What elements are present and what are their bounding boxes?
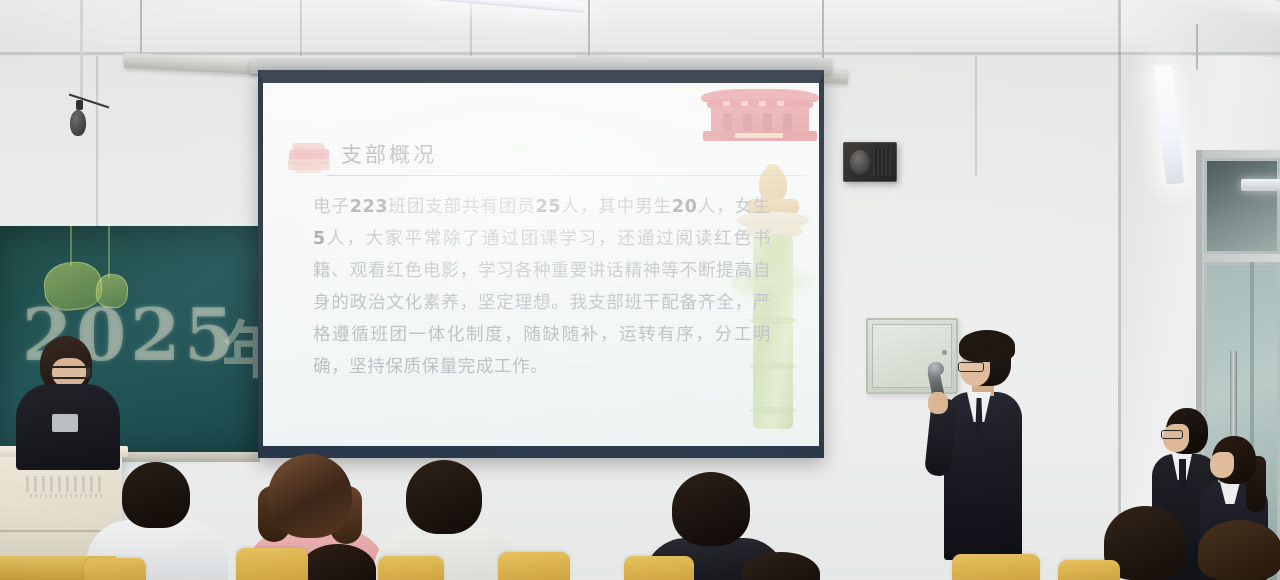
face xyxy=(1210,452,1234,478)
hanging-microphone-icon xyxy=(70,110,86,136)
glasses-icon xyxy=(50,366,92,379)
slide-body-run: 电子 xyxy=(313,197,350,217)
slide-body-run: 班团支部共有团员 xyxy=(388,197,535,217)
light-rod xyxy=(1196,24,1198,70)
chair xyxy=(236,548,308,580)
head xyxy=(406,460,482,534)
corridor-light xyxy=(1241,179,1280,191)
slide-body-run: 人，其中男生 xyxy=(561,197,672,217)
ceiling xyxy=(0,0,1280,56)
podium-logo xyxy=(26,476,106,492)
slide-body-emphasis: 25 xyxy=(536,197,562,217)
chair xyxy=(378,556,444,580)
head xyxy=(122,462,190,528)
shirt-graphic xyxy=(52,414,78,432)
wall-speaker xyxy=(843,142,897,182)
birds-icon xyxy=(715,99,728,106)
head xyxy=(268,454,352,538)
wall-seam xyxy=(1118,0,1121,580)
lantern-string xyxy=(70,226,72,266)
lantern-string xyxy=(108,226,110,278)
chair xyxy=(952,554,1040,580)
chair xyxy=(624,556,694,580)
party-emblem-icon xyxy=(287,141,331,175)
slide-body-text: 电子223班团支部共有团员25人，其中男生20人，女生5人，大家平常除了通过团课… xyxy=(313,191,771,383)
classroom-presentation-photo: 2025 年 xyxy=(0,0,1280,580)
wall-seam xyxy=(300,0,302,56)
slide-body-emphasis: 5 xyxy=(313,229,326,249)
ceiling-mount-pole xyxy=(80,0,83,110)
slide-body-run: 人，大家平常除了通过团课学习，还通过阅读红色书籍、观看红色电影，学习各种重要讲话… xyxy=(313,229,771,377)
slide-title: 支部概况 xyxy=(341,139,437,169)
podium-subtext xyxy=(30,494,102,498)
speaker-cone-icon xyxy=(850,150,870,174)
slide-body-emphasis: 223 xyxy=(350,197,388,217)
birds-icon xyxy=(732,110,742,116)
ceiling-mount-knob xyxy=(76,100,83,110)
hand xyxy=(928,392,948,414)
chair xyxy=(1058,560,1120,580)
presentation-slide: 支部概况 电子223班团支部共有团员25人，其中男生20人，女生5人，大家平常除… xyxy=(263,83,819,446)
electrical-panel xyxy=(866,318,958,394)
glasses-icon xyxy=(1161,430,1183,439)
head xyxy=(672,472,750,546)
speaker-grille xyxy=(873,148,891,176)
panel-latch-icon xyxy=(942,350,947,355)
door-transom-window xyxy=(1204,158,1280,254)
slide-body-run: 人，女生 xyxy=(697,197,771,217)
wall-seam xyxy=(470,0,472,56)
chair xyxy=(84,558,146,580)
glasses-icon xyxy=(958,362,984,372)
projector-screen: 支部概况 电子223班团支部共有团员25人，其中男生20人，女生5人，大家平常除… xyxy=(258,70,824,458)
hair xyxy=(959,330,1015,362)
title-underline xyxy=(327,175,805,176)
slide-body-emphasis: 20 xyxy=(672,197,698,217)
audience-head xyxy=(1198,520,1280,580)
chair xyxy=(498,552,570,580)
tiananmen-gate-icon xyxy=(693,83,819,161)
necktie xyxy=(1179,459,1186,493)
microphone-head-icon xyxy=(928,362,944,376)
ceiling-edge-trim xyxy=(0,52,1280,55)
wall-seam xyxy=(96,56,98,226)
wall-seam xyxy=(975,56,977,176)
